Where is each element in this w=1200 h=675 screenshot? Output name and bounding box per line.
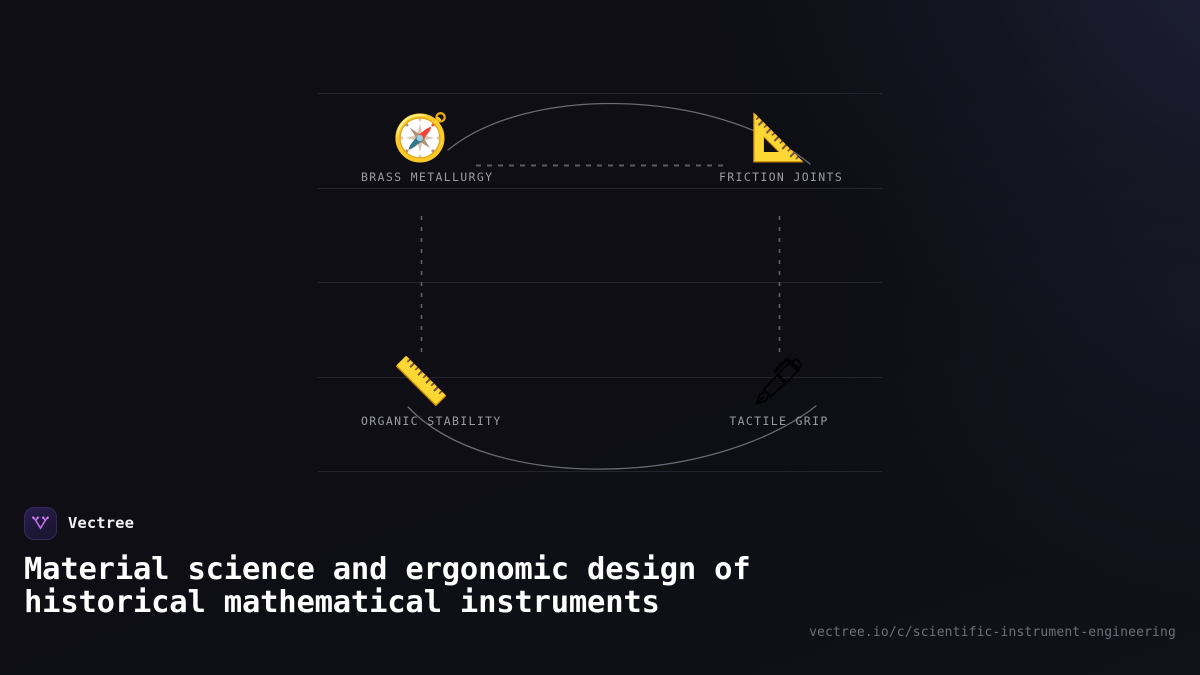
page-url: vectree.io/c/scientific-instrument-engin… <box>809 625 1176 640</box>
straight-ruler-icon: 📏 <box>361 352 481 410</box>
brand-name: Vectree <box>68 514 134 532</box>
diagram-node-label: ORGANIC STABILITY <box>361 414 481 428</box>
fountain-pen-icon: 🖋 <box>719 352 839 410</box>
diagram-node-tactile-grip[interactable]: 🖋 TACTILE GRIP <box>719 352 839 428</box>
diagram-node-brass-metallurgy[interactable]: 🧭 BRASS METALLURGY <box>361 108 481 184</box>
diagram-node-organic-stability[interactable]: 📏 ORGANIC STABILITY <box>361 352 481 428</box>
footer: Vectree Material science and ergonomic d… <box>24 505 1176 619</box>
diagram-node-label: FRICTION JOINTS <box>719 170 839 184</box>
vectree-tree-glyph-icon <box>31 514 50 533</box>
compass-icon: 🧭 <box>361 108 481 166</box>
vectree-logo[interactable] <box>24 507 57 540</box>
page-title: Material science and ergonomic design of… <box>24 554 784 619</box>
diagram-node-friction-joints[interactable]: 📐 FRICTION JOINTS <box>719 108 839 184</box>
diagram-node-label: BRASS METALLURGY <box>361 170 481 184</box>
triangular-ruler-icon: 📐 <box>719 108 839 166</box>
diagram-node-label: TACTILE GRIP <box>719 414 839 428</box>
brand-row[interactable]: Vectree <box>24 505 1176 541</box>
concept-diagram: 🧭 BRASS METALLURGY 📐 FRICTION JOINTS 📏 O… <box>318 88 882 478</box>
